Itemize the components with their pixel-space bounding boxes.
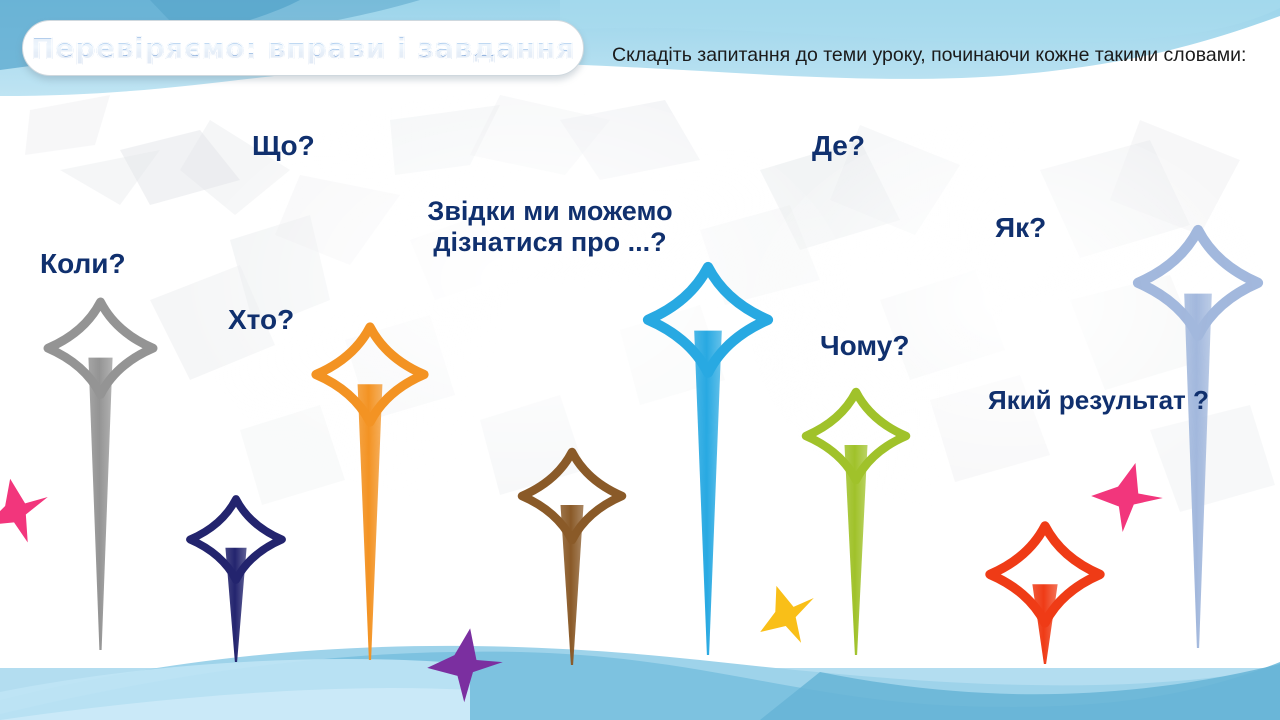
page-title: Перевіряємо: вправи і завдання bbox=[31, 32, 575, 65]
slide-title-pill: Перевіряємо: вправи і завдання bbox=[22, 20, 584, 76]
comet-star-green-icon bbox=[806, 390, 906, 655]
comet-star-orange-icon bbox=[316, 325, 424, 660]
question-label-chomu: Чому? bbox=[820, 330, 909, 362]
comet-star-periwinkle-icon bbox=[1138, 228, 1258, 648]
slide-canvas: Перевіряємо: вправи і завдання Складіть … bbox=[0, 0, 1280, 720]
question-label-yak: Як? bbox=[995, 212, 1046, 244]
comet-star-gray-icon bbox=[48, 300, 153, 650]
question-label-shcho: Що? bbox=[252, 130, 315, 162]
decor-star-purple-icon bbox=[423, 623, 507, 707]
comet-star-red-icon bbox=[990, 524, 1100, 664]
question-label-zvidky: Звідки ми можемо дізнатися про ...? bbox=[390, 196, 710, 258]
question-label-de: Де? bbox=[812, 130, 865, 162]
instruction-text: Складіть запитання до теми уроку, почина… bbox=[612, 40, 1252, 70]
question-label-rezult: Який результат ? bbox=[988, 386, 1209, 416]
question-label-koly: Коли? bbox=[40, 248, 126, 280]
comet-star-navy-icon bbox=[190, 497, 282, 662]
question-label-khto: Хто? bbox=[228, 304, 294, 336]
comet-star-brown-icon bbox=[522, 450, 622, 665]
